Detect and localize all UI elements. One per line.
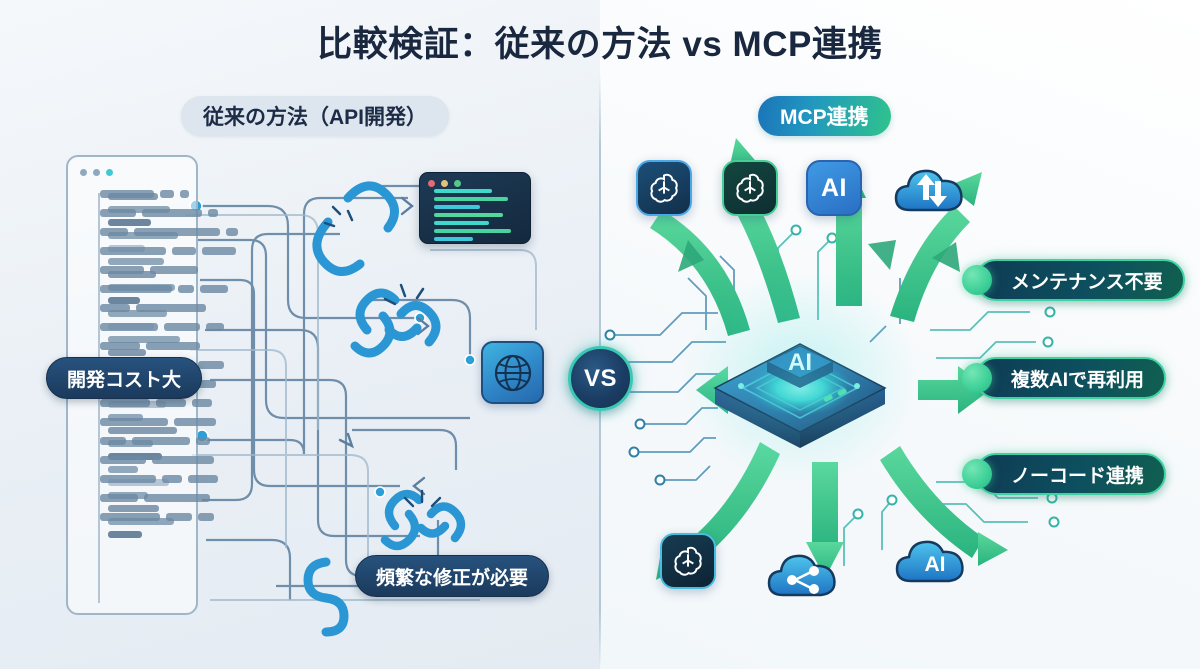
bullet-dot-icon	[962, 363, 992, 393]
openai-logo-icon	[660, 533, 716, 589]
openai-logo-icon	[722, 160, 778, 216]
vs-badge: VS	[568, 346, 633, 411]
code-text-blocks	[100, 190, 290, 610]
callout-label: 複数AIで再利用	[1011, 365, 1144, 392]
mcp-ai-chip: AI	[705, 300, 895, 460]
vs-label: VS	[584, 365, 617, 393]
ai-badge-label: AI	[821, 174, 847, 203]
snippet-traffic-lights	[428, 180, 461, 187]
callout-multi-ai-reuse: 複数AIで再利用	[975, 357, 1166, 399]
callout-no-maintenance: メンテナンス不要	[975, 259, 1185, 301]
code-snippet-window	[419, 172, 531, 244]
infographic-canvas: 比較検証：従来の方法 vs MCP連携 従来の方法（API開発） MCP連携	[0, 0, 1200, 669]
callout-label: メンテナンス不要	[1011, 267, 1163, 294]
openai-logo-icon	[636, 160, 692, 216]
callout-no-code-link: ノーコード連携	[975, 453, 1166, 495]
cloud-ai-icon: AI	[893, 531, 967, 589]
cloud-ai-label: AI	[925, 553, 946, 576]
chip-glow	[675, 275, 925, 490]
cloud-sync-icon	[892, 160, 966, 218]
ai-badge-icon: AI	[806, 160, 862, 216]
callout-frequent-fix: 頻繁な修正が必要	[355, 555, 549, 597]
bullet-dot-icon	[962, 459, 992, 489]
chain-link-icon	[292, 542, 362, 637]
globe-icon	[481, 341, 544, 404]
callout-label: 開発コスト大	[67, 365, 181, 392]
callout-label: 頻繁な修正が必要	[376, 563, 528, 590]
bullet-dot-icon	[962, 265, 992, 295]
cloud-share-icon	[765, 545, 839, 603]
window-traffic-lights	[80, 169, 113, 176]
callout-label: ノーコード連携	[1011, 461, 1144, 488]
chain-link-icon	[345, 270, 455, 380]
callout-dev-cost: 開発コスト大	[46, 357, 202, 399]
